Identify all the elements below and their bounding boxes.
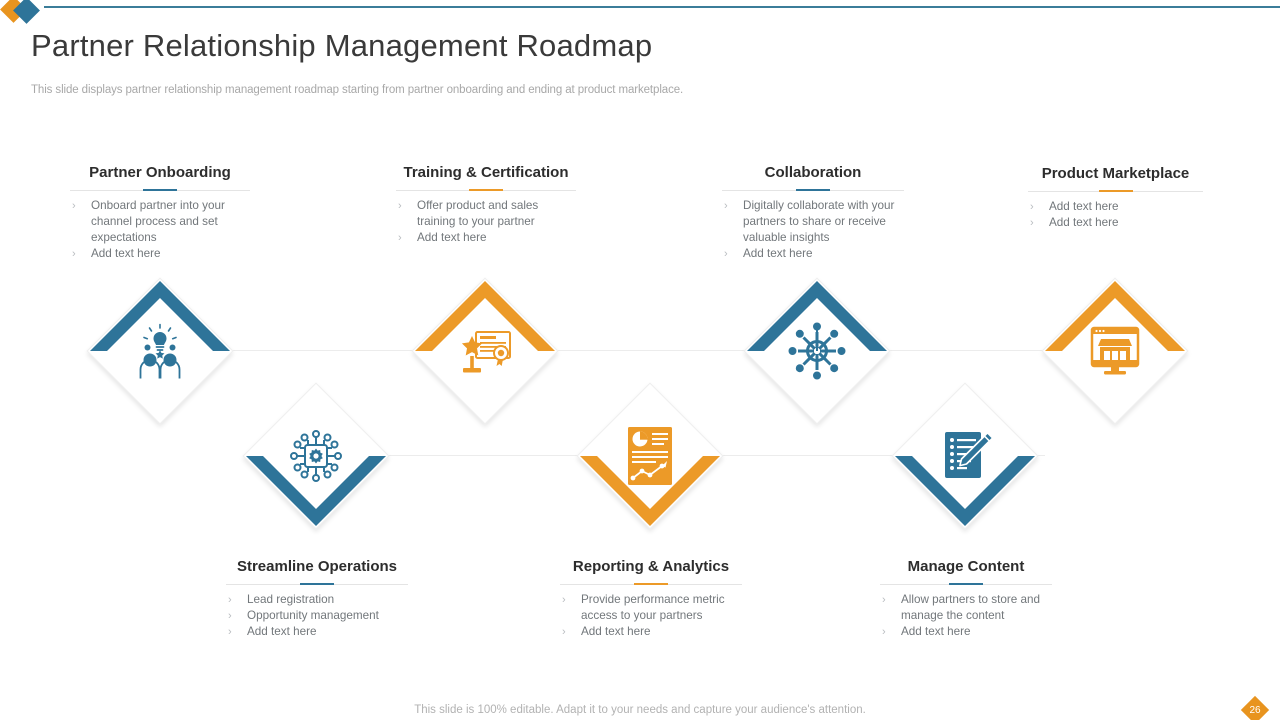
roadmap-node-product-marketplace[interactable] [1040, 276, 1190, 426]
step-bullet-list: ›Onboard partner into your channel proce… [70, 198, 250, 262]
list-item: ›Lead registration [226, 592, 408, 608]
bullet-chevron-icon: › [398, 230, 402, 246]
bullet-chevron-icon: › [228, 608, 232, 624]
step-title: Collaboration [722, 165, 904, 182]
underline-accent [300, 583, 334, 585]
list-item: ›Add text here [560, 624, 742, 640]
chip-gear-icon [241, 381, 391, 531]
bullet-chevron-icon: › [228, 592, 232, 608]
page-subtitle: This slide displays partner relationship… [31, 84, 683, 96]
roadmap-node-manage-content[interactable] [890, 381, 1040, 531]
bullet-chevron-icon: › [1030, 199, 1034, 215]
bullet-chevron-icon: › [882, 592, 886, 608]
bullet-chevron-icon: › [1030, 215, 1034, 231]
roadmap-connector-top [150, 350, 1185, 351]
underline-accent [143, 189, 177, 191]
step-title-underline [722, 190, 904, 191]
report-chart-icon [575, 381, 725, 531]
step-text-product-marketplace: Product Marketplace ›Add text here ›Add … [1028, 166, 1203, 231]
step-bullet-list: ›Digitally collaborate with your partner… [722, 198, 904, 262]
underline-accent [796, 189, 830, 191]
list-item: ›Provide performance metric access to yo… [560, 592, 742, 624]
roadmap-node-collaboration[interactable] [742, 276, 892, 426]
step-title-underline [560, 584, 742, 585]
step-bullet-list: ›Allow partners to store and manage the … [880, 592, 1052, 640]
underline-accent [469, 189, 503, 191]
step-title: Training & Certification [396, 165, 576, 182]
step-title-underline [226, 584, 408, 585]
step-text-collaboration: Collaboration ›Digitally collaborate wit… [722, 165, 904, 262]
list-item: ›Opportunity management [226, 608, 408, 624]
roadmap-node-partner-onboarding[interactable] [85, 276, 235, 426]
list-item: ›Add text here [1028, 199, 1203, 215]
page-number: 26 [1242, 697, 1268, 720]
list-item: ›Add text here [880, 624, 1052, 640]
header-rule [44, 6, 1280, 8]
list-item: ›Offer product and sales training to you… [396, 198, 576, 230]
list-item: ›Onboard partner into your channel proce… [70, 198, 250, 246]
list-item: ›Add text here [1028, 215, 1203, 231]
step-title-underline [880, 584, 1052, 585]
bullet-chevron-icon: › [72, 198, 76, 214]
bullet-chevron-icon: › [882, 624, 886, 640]
bullet-chevron-icon: › [72, 246, 76, 262]
step-bullet-list: ›Provide performance metric access to yo… [560, 592, 742, 640]
bullet-chevron-icon: › [724, 246, 728, 262]
underline-accent [634, 583, 668, 585]
step-title-underline [396, 190, 576, 191]
step-title: Manage Content [880, 559, 1052, 576]
underline-accent [1099, 190, 1133, 192]
network-hub-icon [742, 276, 892, 426]
step-bullet-list: ›Add text here ›Add text here [1028, 199, 1203, 231]
online-storefront-icon [1040, 276, 1190, 426]
page-title: Partner Relationship Management Roadmap [31, 28, 652, 64]
roadmap-node-streamline-operations[interactable] [241, 381, 391, 531]
list-item: ›Add text here [226, 624, 408, 640]
step-title: Streamline Operations [226, 559, 408, 576]
step-title: Reporting & Analytics [560, 559, 742, 576]
footer-note: This slide is 100% editable. Adapt it to… [0, 704, 1280, 716]
list-item: ›Add text here [396, 230, 576, 246]
step-text-reporting-analytics: Reporting & Analytics ›Provide performan… [560, 559, 742, 640]
list-item: ›Add text here [70, 246, 250, 262]
step-title: Product Marketplace [1028, 166, 1203, 183]
step-text-training-certification: Training & Certification ›Offer product … [396, 165, 576, 246]
step-title-underline [1028, 191, 1203, 192]
step-text-manage-content: Manage Content ›Allow partners to store … [880, 559, 1052, 640]
step-title: Partner Onboarding [70, 165, 250, 182]
bullet-chevron-icon: › [228, 624, 232, 640]
roadmap-node-reporting-analytics[interactable] [575, 381, 725, 531]
list-item: ›Add text here [722, 246, 904, 262]
bullet-chevron-icon: › [724, 198, 728, 214]
step-text-partner-onboarding: Partner Onboarding ›Onboard partner into… [70, 165, 250, 262]
underline-accent [949, 583, 983, 585]
step-title-underline [70, 190, 250, 191]
step-text-streamline-operations: Streamline Operations ›Lead registration… [226, 559, 408, 640]
list-item: ›Digitally collaborate with your partner… [722, 198, 904, 246]
bullet-chevron-icon: › [562, 624, 566, 640]
team-idea-icon [85, 276, 235, 426]
notepad-pencil-icon [890, 381, 1040, 531]
roadmap-node-training-certification[interactable] [410, 276, 560, 426]
list-item: ›Allow partners to store and manage the … [880, 592, 1052, 624]
bullet-chevron-icon: › [562, 592, 566, 608]
page-number-badge: 26 [1242, 697, 1268, 720]
bullet-chevron-icon: › [398, 198, 402, 214]
certificate-award-icon [410, 276, 560, 426]
step-bullet-list: ›Lead registration ›Opportunity manageme… [226, 592, 408, 640]
step-bullet-list: ›Offer product and sales training to you… [396, 198, 576, 246]
